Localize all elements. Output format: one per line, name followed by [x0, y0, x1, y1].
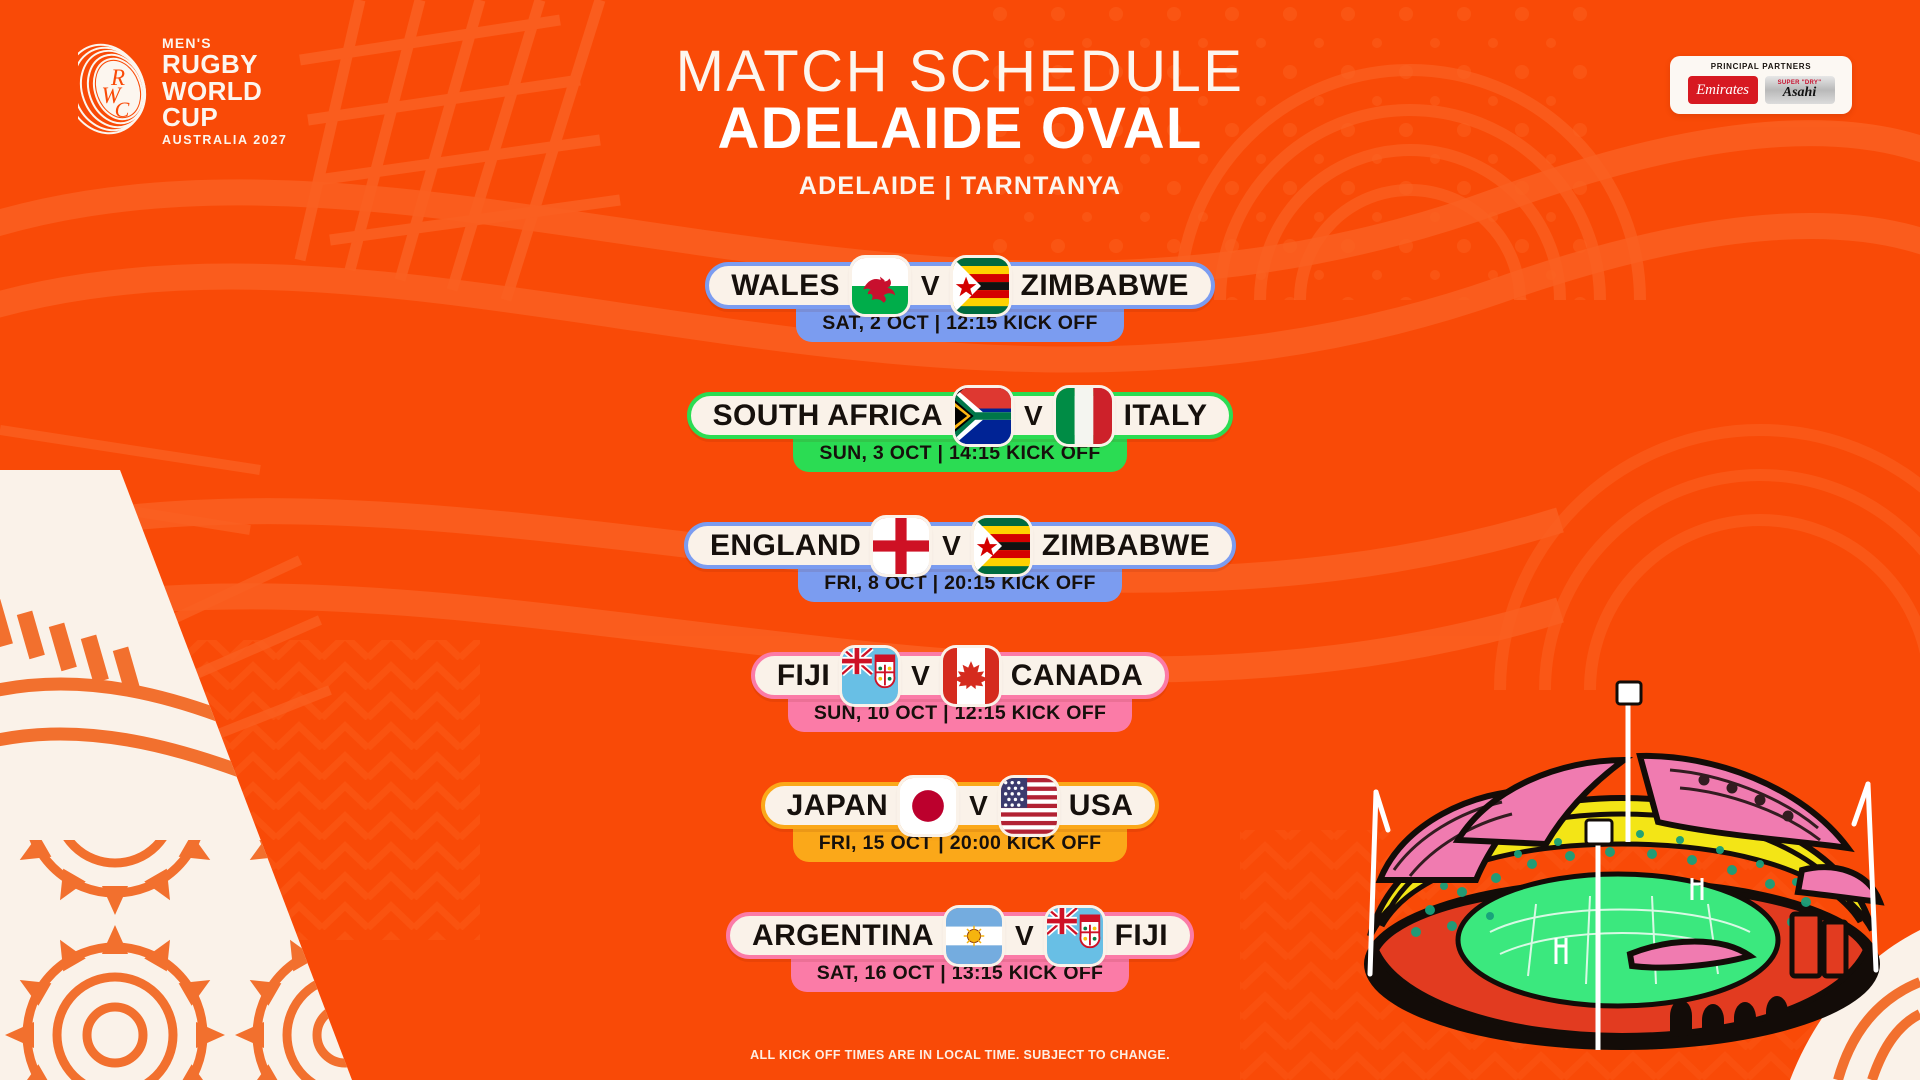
south-africa-flag — [955, 388, 1011, 444]
zimbabwe-flag — [953, 258, 1009, 314]
home-team-name: ARGENTINA — [752, 919, 934, 953]
venue-title: ADELAIDE OVAL — [0, 99, 1920, 158]
italy-flag — [1056, 388, 1112, 444]
fiji-flag — [1047, 908, 1103, 964]
argentina-flag — [946, 908, 1002, 964]
match-pill[interactable]: WALESVZIMBABWE — [705, 262, 1215, 309]
away-team-name: FIJI — [1115, 919, 1168, 953]
match-row[interactable]: WALESVZIMBABWESAT, 2 OCT | 12:15 KICK OF… — [0, 262, 1920, 392]
versus-label: V — [908, 270, 953, 302]
venue-subtitle: ADELAIDE | TARNTANYA — [0, 172, 1920, 201]
home-team-name: JAPAN — [787, 789, 888, 823]
match-row[interactable]: ENGLANDVZIMBABWEFRI, 8 OCT | 20:15 KICK … — [0, 522, 1920, 652]
away-team-name: ITALY — [1124, 399, 1208, 433]
fiji-flag — [842, 648, 898, 704]
match-pill[interactable]: FIJIVCANADA — [751, 652, 1169, 699]
wales-flag — [852, 258, 908, 314]
japan-flag — [900, 778, 956, 834]
england-flag — [873, 518, 929, 574]
away-team-name: USA — [1069, 789, 1134, 823]
match-pill[interactable]: ARGENTINAVFIJI — [726, 912, 1194, 959]
versus-label: V — [1011, 400, 1056, 432]
match-pill[interactable]: SOUTH AFRICAVITALY — [687, 392, 1234, 439]
adelaide-oval-illustration — [1340, 664, 1900, 1054]
home-team-name: FIJI — [777, 659, 830, 693]
match-row[interactable]: SOUTH AFRICAVITALYSUN, 3 OCT | 14:15 KIC… — [0, 392, 1920, 522]
usa-flag — [1001, 778, 1057, 834]
away-team-name: CANADA — [1011, 659, 1143, 693]
home-team-name: WALES — [731, 269, 840, 303]
page-title-block: MATCH SCHEDULE ADELAIDE OVAL ADELAIDE | … — [0, 42, 1920, 201]
zimbabwe-flag — [974, 518, 1030, 574]
away-team-name: ZIMBABWE — [1042, 529, 1210, 563]
versus-label: V — [898, 660, 943, 692]
versus-label: V — [1002, 920, 1047, 952]
away-team-name: ZIMBABWE — [1021, 269, 1189, 303]
footer-disclaimer: ALL KICK OFF TIMES ARE IN LOCAL TIME. SU… — [0, 1048, 1920, 1062]
versus-label: V — [929, 530, 974, 562]
versus-label: V — [956, 790, 1001, 822]
match-pill[interactable]: ENGLANDVZIMBABWE — [684, 522, 1236, 569]
match-pill[interactable]: JAPANVUSA — [761, 782, 1160, 829]
home-team-name: SOUTH AFRICA — [713, 399, 943, 433]
home-team-name: ENGLAND — [710, 529, 861, 563]
canada-flag — [943, 648, 999, 704]
page-title: MATCH SCHEDULE — [0, 42, 1920, 101]
